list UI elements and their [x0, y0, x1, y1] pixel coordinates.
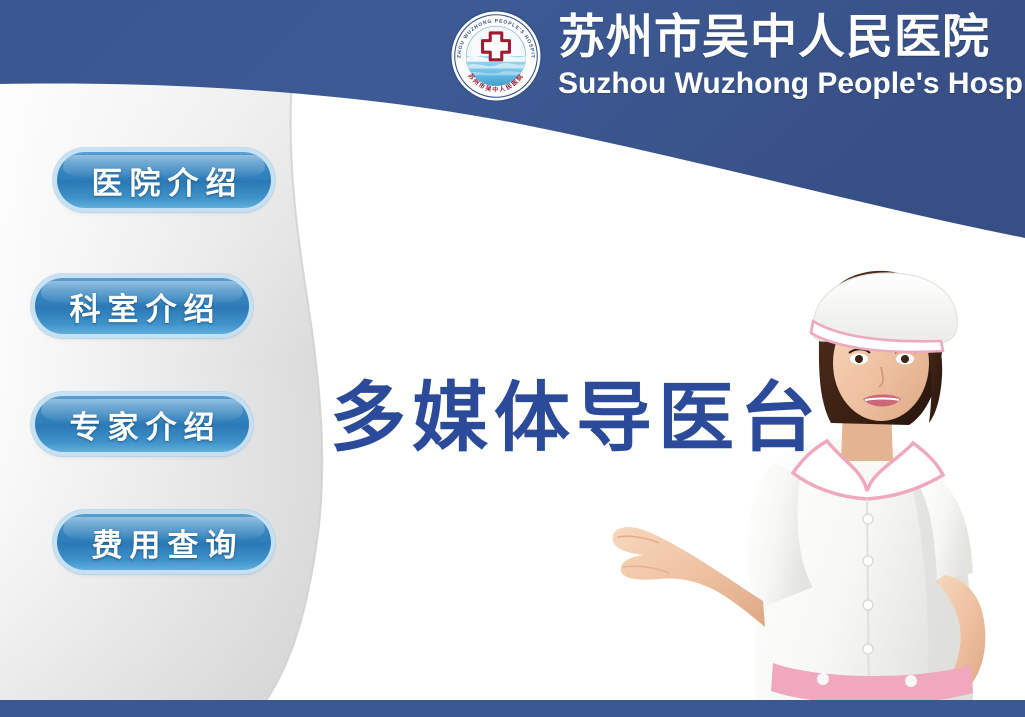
sidebar-item-label: 专家介绍 — [63, 402, 222, 447]
sidebar-item-department-introduction[interactable]: 科室介绍 — [35, 278, 249, 334]
hospital-seal-logo: SUZHOU WUZHONG PEOPLE'S HOSPITAL 苏州市吴中人民… — [448, 8, 544, 104]
header-title-block: 苏州市吴中人民医院 Suzhou Wuzhong People's Hospit… — [558, 14, 1025, 99]
left-navigation: 医院介绍 科室介绍 专家介绍 费用查询 — [0, 0, 330, 717]
sidebar-item-label: 医院介绍 — [85, 158, 244, 203]
sidebar-item-label: 费用查询 — [85, 520, 244, 565]
sidebar-item-expert-introduction[interactable]: 专家介绍 — [35, 396, 249, 452]
hospital-seal-icon: SUZHOU WUZHONG PEOPLE'S HOSPITAL 苏州市吴中人民… — [448, 8, 544, 104]
sidebar-item-hospital-introduction[interactable]: 医院介绍 — [57, 152, 271, 208]
footer-bar — [0, 700, 1025, 717]
header-content: SUZHOU WUZHONG PEOPLE'S HOSPITAL 苏州市吴中人民… — [448, 4, 1025, 108]
sidebar-item-label: 科室介绍 — [63, 284, 222, 329]
kiosk-screen: SUZHOU WUZHONG PEOPLE'S HOSPITAL 苏州市吴中人民… — [0, 0, 1025, 717]
main-headline: 多媒体导医台 — [330, 356, 822, 466]
sidebar-item-fee-inquiry[interactable]: 费用查询 — [57, 514, 271, 570]
page-title-cn: 苏州市吴中人民医院 — [558, 14, 1025, 61]
page-title-en: Suzhou Wuzhong People's Hospital — [558, 69, 1025, 99]
